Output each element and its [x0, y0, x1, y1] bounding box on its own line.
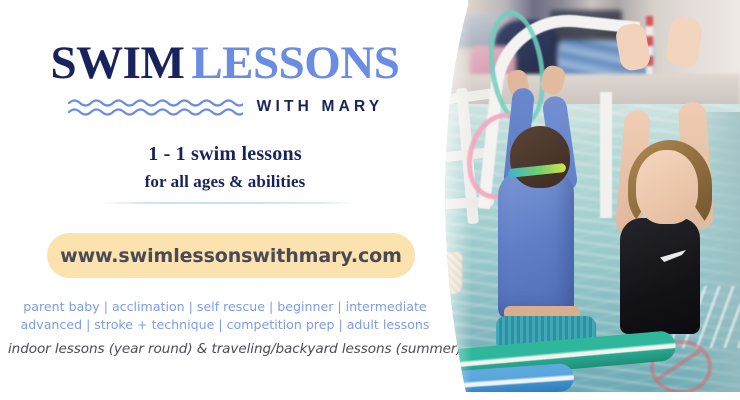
- wave-decoration-icon: [67, 96, 243, 118]
- footnote-text: indoor lessons (year round) & traveling/…: [8, 341, 448, 357]
- instructor-head: [636, 150, 698, 224]
- logo-subtitle: WITH MARY: [257, 98, 384, 116]
- pool-handrail-post: [600, 92, 612, 218]
- tagline-primary: 1 - 1 swim lessons: [0, 142, 450, 167]
- hero-photo-clip: [432, 0, 740, 400]
- tagline-secondary: for all ages & abilities: [0, 171, 450, 193]
- instructor-swimsuit: [620, 218, 700, 334]
- left-content-panel: SWIMLESSONS WITH MARY 1 - 1 swim lessons…: [0, 0, 450, 400]
- services-line-1: parent baby | acclimation | self rescue …: [0, 298, 450, 316]
- section-divider: [100, 202, 356, 204]
- pool-noodle-blue: [432, 363, 575, 400]
- photo-left-fade: [432, 0, 472, 400]
- flyer-canvas: SWIMLESSONS WITH MARY 1 - 1 swim lessons…: [0, 0, 740, 400]
- logo-word-lessons: LESSONS: [191, 37, 399, 89]
- child-rash-guard: [498, 170, 574, 320]
- child-head: [510, 126, 570, 188]
- website-url-text: www.swimlessonswithmary.com: [60, 245, 402, 267]
- hero-photo-container: [432, 0, 740, 400]
- brand-logo: SWIMLESSONS WITH MARY: [0, 40, 450, 120]
- website-url-button[interactable]: www.swimlessonswithmary.com: [47, 233, 415, 278]
- logo-wordmark: SWIMLESSONS: [0, 40, 450, 87]
- services-line-2: advanced | stroke + technique | competit…: [0, 316, 450, 334]
- hero-photo: [432, 0, 740, 400]
- logo-word-swim: SWIM: [51, 37, 185, 89]
- tagline-block: 1 - 1 swim lessons for all ages & abilit…: [0, 142, 450, 193]
- logo-subtitle-row: WITH MARY: [0, 94, 450, 120]
- services-list: parent baby | acclimation | self rescue …: [0, 298, 450, 335]
